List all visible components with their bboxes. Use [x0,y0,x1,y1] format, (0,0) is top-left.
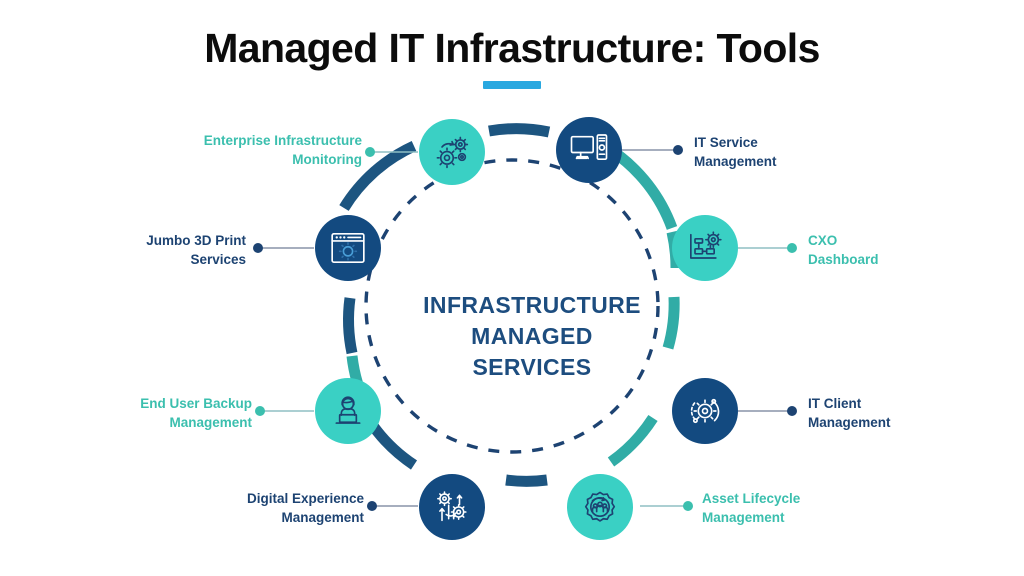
label-line2: Management [40,508,364,527]
connector-dot-it-client-management [787,406,797,416]
gear-people-icon [580,487,620,527]
label-line1: Jumbo 3D Print [0,231,246,250]
connector-dot-asset-lifecycle-management [683,501,693,511]
center-label: INFRASTRUCTURE MANAGED SERVICES [392,290,672,383]
label-line1: IT Service [694,133,994,152]
node-cxo-dashboard[interactable] [672,215,738,281]
node-it-service-management[interactable] [556,117,622,183]
label-jumbo-3d-print-services: Jumbo 3D Print Services [0,231,246,269]
label-line1: CXO [808,231,1018,250]
ring-arc-navy-bottom [506,480,547,481]
connector-dot-enterprise-infrastructure-monitoring [365,147,375,157]
growth-gears-icon [432,487,472,527]
label-line1: Enterprise Infrastructure [0,131,362,150]
label-line1: Digital Experience [40,489,364,508]
center-line-3: SERVICES [392,352,672,383]
connector-dot-jumbo-3d-print-services [253,243,263,253]
node-end-user-backup-management[interactable] [315,378,381,444]
label-enterprise-infrastructure-monitoring: Enterprise Infrastructure Monitoring [0,131,362,169]
label-line1: End User Backup [0,394,252,413]
infographic-canvas: Managed IT Infrastructure: Tools [0,0,1024,576]
label-it-client-management: IT Client Management [808,394,1018,432]
label-line2: Monitoring [0,150,362,169]
node-enterprise-infrastructure-monitoring[interactable] [419,119,485,185]
ring-arc-navy-left [349,298,352,353]
connector-dot-it-service-management [673,145,683,155]
node-asset-lifecycle-management[interactable] [567,474,633,540]
center-line-1: INFRASTRUCTURE [392,290,672,321]
label-line2: Management [808,413,1018,432]
label-line2: Dashboard [808,250,1018,269]
connector-dot-digital-experience-management [367,501,377,511]
node-digital-experience-management[interactable] [419,474,485,540]
cycle-diagram: Enterprise Infrastructure Monitoring IT … [0,0,1024,576]
node-it-client-management[interactable] [672,378,738,444]
label-digital-experience-management: Digital Experience Management [40,489,364,527]
label-line1: IT Client [808,394,1018,413]
connector-dot-cxo-dashboard [787,243,797,253]
dashboard-chart-gear-icon [685,228,725,268]
browser-window-icon [328,230,368,266]
label-line2: Services [0,250,246,269]
connector-dot-end-user-backup-management [255,406,265,416]
ring-arc-navy-top [489,129,549,132]
label-cxo-dashboard: CXO Dashboard [808,231,1018,269]
person-laptop-icon [328,391,368,431]
label-line2: Management [0,413,252,432]
label-asset-lifecycle-management: Asset Lifecycle Management [702,489,962,527]
label-line2: Management [694,152,994,171]
gear-orbit-icon [685,391,725,431]
gears-icon [432,132,472,172]
label-line1: Asset Lifecycle [702,489,962,508]
desktop-computer-icon [569,131,609,169]
label-end-user-backup-management: End User Backup Management [0,394,252,432]
ring-arc-teal-bottomright [611,418,653,462]
label-line2: Management [702,508,962,527]
ring-arc-teal-topright [611,150,672,228]
node-jumbo-3d-print-services[interactable] [315,215,381,281]
label-it-service-management: IT Service Management [694,133,994,171]
center-line-2: MANAGED [392,321,672,352]
